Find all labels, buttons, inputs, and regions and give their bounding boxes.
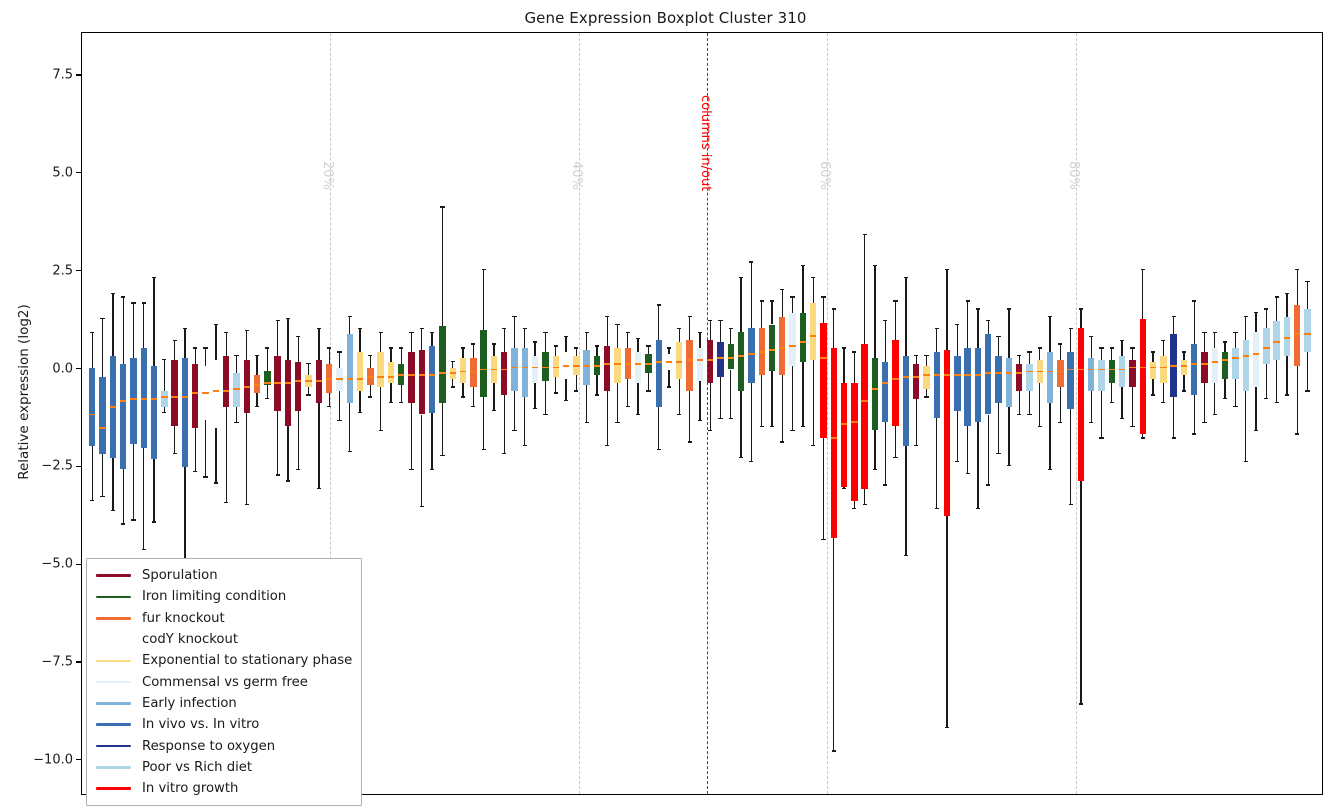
- whisker-lower: [740, 391, 741, 458]
- median-line: [182, 396, 188, 398]
- cap-upper: [873, 265, 877, 266]
- whisker-lower: [668, 370, 669, 388]
- whisker-upper: [1224, 342, 1225, 352]
- cap-upper: [430, 332, 434, 333]
- box-rect: [769, 325, 775, 372]
- whisker-upper: [1152, 352, 1153, 362]
- whisker-lower: [823, 438, 824, 540]
- cap-upper: [183, 328, 187, 329]
- median-line: [99, 427, 105, 429]
- whisker-lower: [359, 391, 360, 413]
- whisker-upper: [565, 336, 566, 352]
- legend-swatch: [96, 766, 131, 769]
- whisker-upper: [1080, 309, 1081, 329]
- cap-lower: [677, 414, 681, 415]
- legend[interactable]: SporulationIron limiting conditionfur kn…: [86, 558, 362, 806]
- cap-lower: [543, 414, 547, 415]
- legend-label: Iron limiting condition: [142, 589, 286, 604]
- cap-upper: [276, 320, 280, 321]
- cap-upper: [420, 328, 424, 329]
- whisker-upper: [1194, 301, 1195, 344]
- whisker-upper: [936, 328, 937, 351]
- box-rect: [470, 358, 476, 387]
- cap-lower: [1254, 430, 1258, 431]
- box-rect: [1273, 321, 1279, 360]
- median-line: [1006, 372, 1012, 374]
- box-rect: [99, 377, 105, 453]
- cap-lower: [162, 412, 166, 413]
- whisker-lower: [576, 375, 577, 391]
- cap-lower: [873, 469, 877, 470]
- cap-upper: [832, 308, 836, 309]
- box-rect: [635, 352, 641, 383]
- median-line: [305, 380, 311, 382]
- whisker-upper: [215, 325, 216, 360]
- box-rect: [1098, 360, 1104, 391]
- cap-lower: [348, 451, 352, 452]
- cap-upper: [471, 343, 475, 344]
- median-line: [841, 423, 847, 425]
- cap-upper: [842, 347, 846, 348]
- legend-swatch: [96, 617, 131, 620]
- box-rect: [686, 340, 692, 391]
- median-line: [676, 361, 682, 363]
- whisker-upper: [998, 336, 999, 356]
- whisker-upper: [174, 340, 175, 360]
- cap-lower: [935, 508, 939, 509]
- cap-lower: [842, 488, 846, 489]
- median-line: [964, 374, 970, 376]
- cap-lower: [760, 426, 764, 427]
- cap-upper: [379, 332, 383, 333]
- whisker-lower: [349, 403, 350, 452]
- cap-lower: [1120, 418, 1124, 419]
- whisker-lower: [627, 379, 628, 406]
- whisker-upper: [658, 305, 659, 340]
- median-line: [450, 372, 456, 374]
- median-line: [1067, 369, 1073, 371]
- cap-upper: [90, 332, 94, 333]
- whisker-upper: [1297, 270, 1298, 305]
- whisker-lower: [534, 383, 535, 408]
- cap-upper: [1223, 341, 1227, 342]
- cap-lower: [1130, 426, 1134, 427]
- whisker-upper: [401, 348, 402, 364]
- cap-lower: [430, 469, 434, 470]
- median-line: [666, 361, 672, 363]
- cap-lower: [440, 455, 444, 456]
- whisker-upper: [977, 309, 978, 348]
- cap-lower: [255, 406, 259, 407]
- box-rect: [233, 373, 239, 406]
- whisker-lower: [1286, 356, 1287, 395]
- median-line: [717, 357, 723, 359]
- legend-item-8[interactable]: Response to oxygen: [87, 735, 361, 756]
- median-line: [1119, 369, 1125, 371]
- whisker-upper: [226, 332, 227, 355]
- median-line: [470, 371, 476, 373]
- cap-lower: [863, 504, 867, 505]
- box-rect: [1160, 356, 1166, 383]
- whisker-lower: [226, 407, 227, 503]
- whisker-lower: [545, 381, 546, 414]
- box-rect: [1181, 360, 1187, 376]
- median-line: [501, 369, 507, 371]
- median-line: [480, 369, 486, 371]
- median-line: [934, 374, 940, 376]
- median-line: [563, 365, 569, 367]
- whisker-lower: [493, 383, 494, 410]
- whisker-lower: [1132, 387, 1133, 426]
- whisker-upper: [123, 297, 124, 364]
- legend-item-1[interactable]: Iron limiting condition: [87, 586, 361, 607]
- median-line: [1263, 347, 1269, 349]
- box-rect: [213, 360, 219, 428]
- median-line: [872, 388, 878, 390]
- cap-upper: [698, 332, 702, 333]
- box-rect: [171, 360, 177, 427]
- cap-lower: [595, 394, 599, 395]
- y-tick-label: 0.0: [52, 361, 73, 376]
- whisker-lower: [1235, 379, 1236, 406]
- whisker-lower: [1255, 387, 1256, 430]
- whisker-upper: [442, 207, 443, 326]
- whisker-upper: [689, 317, 690, 340]
- whisker-lower: [1121, 387, 1122, 418]
- whisker-upper: [524, 328, 525, 348]
- whisker-upper: [967, 301, 968, 348]
- cap-lower: [409, 469, 413, 470]
- cap-lower: [615, 422, 619, 423]
- whisker-lower: [586, 385, 587, 422]
- cap-lower: [667, 386, 671, 387]
- legend-swatch: [96, 787, 131, 790]
- cap-upper: [780, 289, 784, 290]
- cap-upper: [1285, 293, 1289, 294]
- legend-label: Response to oxygen: [142, 739, 275, 754]
- whisker-lower: [689, 391, 690, 442]
- box-rect: [583, 350, 589, 385]
- cap-upper: [863, 234, 867, 235]
- median-line: [1088, 369, 1094, 371]
- box-rect: [882, 362, 888, 423]
- whisker-upper: [1245, 317, 1246, 340]
- cap-upper: [677, 328, 681, 329]
- cap-lower: [801, 426, 805, 427]
- whisker-upper: [740, 278, 741, 333]
- whisker-lower: [215, 428, 216, 483]
- cap-lower: [1295, 433, 1299, 434]
- whisker-upper: [864, 235, 865, 345]
- cap-lower: [698, 420, 702, 421]
- whisker-upper: [1235, 332, 1236, 348]
- box-rect: [975, 348, 981, 422]
- median-line: [1026, 371, 1032, 373]
- gridline-label: 20%: [320, 161, 335, 190]
- cap-lower: [883, 484, 887, 485]
- median-line: [831, 437, 837, 439]
- median-line: [1201, 363, 1207, 365]
- median-line: [707, 359, 713, 361]
- box-rect: [1078, 328, 1084, 481]
- median-line: [1222, 359, 1228, 361]
- box-rect: [800, 313, 806, 362]
- legend-item-5[interactable]: Commensal vs germ free: [87, 671, 361, 692]
- median-line: [923, 374, 929, 376]
- legend-item-7[interactable]: In vivo vs. In vitro: [87, 714, 361, 735]
- cap-lower: [1048, 469, 1052, 470]
- cap-lower: [708, 430, 712, 431]
- cap-lower: [265, 398, 269, 399]
- cap-upper: [162, 359, 166, 360]
- box-rect: [182, 358, 188, 468]
- legend-label: fur knockout: [142, 611, 225, 626]
- whisker-upper: [277, 321, 278, 356]
- whisker-lower: [617, 383, 618, 422]
- whisker-lower: [421, 415, 422, 507]
- median-line: [810, 335, 816, 337]
- cap-upper: [1254, 312, 1258, 313]
- cap-lower: [111, 510, 115, 511]
- whisker-lower: [1101, 391, 1102, 438]
- legend-label: In vitro growth: [142, 781, 238, 796]
- whisker-upper: [112, 293, 113, 356]
- whisker-upper: [370, 356, 371, 368]
- whisker-upper: [102, 319, 103, 378]
- cap-lower: [193, 471, 197, 472]
- whisker-lower: [648, 373, 649, 391]
- cap-upper: [492, 343, 496, 344]
- cap-lower: [327, 406, 331, 407]
- whisker-upper: [1163, 340, 1164, 356]
- cap-lower: [790, 430, 794, 431]
- whisker-upper: [359, 328, 360, 351]
- cap-upper: [667, 347, 671, 348]
- whisker-upper: [421, 328, 422, 350]
- whisker-upper: [648, 346, 649, 354]
- box-rect: [1201, 352, 1207, 383]
- median-line: [1284, 337, 1290, 339]
- cap-upper: [100, 318, 104, 319]
- whisker-lower: [1080, 481, 1081, 704]
- cap-lower: [1285, 394, 1289, 395]
- box-rect: [1026, 364, 1032, 391]
- whisker-lower: [411, 403, 412, 470]
- median-line: [892, 378, 898, 380]
- median-line: [254, 384, 260, 386]
- cap-upper: [317, 328, 321, 329]
- cap-lower: [234, 422, 238, 423]
- chart-title: Gene Expression Boxplot Cluster 310: [0, 9, 1331, 27]
- whisker-lower: [153, 459, 154, 522]
- whisker-lower: [607, 391, 608, 446]
- whisker-lower: [885, 422, 886, 485]
- cap-lower: [1027, 414, 1031, 415]
- whisker-upper: [1101, 348, 1102, 360]
- cap-upper: [770, 300, 774, 301]
- whisker-lower: [957, 411, 958, 462]
- box-rect: [1253, 332, 1259, 387]
- columns-inout-label: columns in/out: [698, 95, 713, 191]
- median-line: [408, 374, 414, 376]
- whisker-lower: [380, 387, 381, 430]
- whisker-lower: [1111, 383, 1112, 403]
- whisker-lower: [730, 370, 731, 419]
- whisker-lower: [967, 426, 968, 473]
- whisker-upper: [1008, 309, 1009, 358]
- box-rect: [913, 364, 919, 399]
- whisker-lower: [1204, 383, 1205, 422]
- cap-upper: [554, 345, 558, 346]
- whisker-lower: [936, 418, 937, 508]
- whisker-lower: [524, 397, 525, 446]
- cap-lower: [1264, 398, 1268, 399]
- legend-item-6[interactable]: Early infection: [87, 693, 361, 714]
- whisker-lower: [174, 426, 175, 453]
- whisker-upper: [699, 332, 700, 348]
- whisker-upper: [462, 348, 463, 358]
- box-rect: [1067, 352, 1073, 409]
- whisker-upper: [1286, 293, 1287, 316]
- whisker-lower: [1019, 391, 1020, 414]
- cap-upper: [718, 320, 722, 321]
- cap-upper: [1007, 308, 1011, 309]
- boxplot-figure: Gene Expression Boxplot Cluster 310 Rela…: [0, 0, 1331, 812]
- cap-upper: [811, 277, 815, 278]
- whisker-upper: [679, 328, 680, 342]
- whisker-upper: [761, 301, 762, 328]
- box-rect: [1129, 360, 1135, 387]
- cap-lower: [1172, 437, 1176, 438]
- cap-lower: [924, 396, 928, 397]
- cap-lower: [1058, 422, 1062, 423]
- whisker-upper: [926, 356, 927, 366]
- cap-lower: [749, 461, 753, 462]
- gridline-60pct: [827, 33, 828, 794]
- median-line: [903, 376, 909, 378]
- whisker-lower: [1183, 375, 1184, 391]
- whisker-lower: [318, 403, 319, 489]
- box-rect: [1016, 364, 1022, 391]
- cap-upper: [1069, 328, 1073, 329]
- whisker-upper: [287, 319, 288, 360]
- cap-lower: [1275, 402, 1279, 403]
- whisker-upper: [586, 332, 587, 350]
- cap-upper: [1305, 281, 1309, 282]
- box-rect: [192, 364, 198, 429]
- whisker-upper: [1307, 281, 1308, 308]
- cap-lower: [1089, 422, 1093, 423]
- cap-upper: [1089, 336, 1093, 337]
- cap-upper: [1182, 351, 1186, 352]
- gridline-label: 80%: [1066, 161, 1081, 190]
- cap-upper: [1161, 340, 1165, 341]
- median-line: [316, 380, 322, 382]
- legend-item-0[interactable]: Sporulation: [87, 565, 361, 586]
- cap-lower: [451, 386, 455, 387]
- box-rect: [707, 340, 713, 383]
- legend-label: Commensal vs germ free: [142, 675, 308, 690]
- box-rect: [388, 362, 394, 384]
- cap-lower: [121, 523, 125, 524]
- whisker-upper: [596, 346, 597, 356]
- whisker-lower: [195, 428, 196, 471]
- box-rect: [1057, 360, 1063, 387]
- box-rect: [1088, 358, 1094, 391]
- cap-upper: [729, 328, 733, 329]
- cap-upper: [409, 332, 413, 333]
- gridline-label: 40%: [569, 161, 584, 190]
- median-line: [625, 363, 631, 365]
- legend-item-2[interactable]: fur knockout: [87, 608, 361, 629]
- cap-upper: [131, 302, 135, 303]
- median-line: [1232, 357, 1238, 359]
- whisker-lower: [143, 448, 144, 550]
- whisker-upper: [92, 332, 93, 367]
- whisker-lower: [92, 446, 93, 501]
- y-tick-label: 2.5: [52, 263, 73, 278]
- box-rect: [522, 348, 528, 397]
- cap-lower: [1079, 703, 1083, 704]
- median-line: [223, 390, 229, 392]
- median-line: [789, 345, 795, 347]
- cap-upper: [482, 269, 486, 270]
- legend-item-9[interactable]: Poor vs Rich diet: [87, 757, 361, 778]
- whisker-lower: [267, 385, 268, 399]
- box-rect: [810, 303, 816, 360]
- cap-upper: [523, 328, 527, 329]
- median-line: [769, 349, 775, 351]
- cap-upper: [1264, 308, 1268, 309]
- cap-upper: [595, 345, 599, 346]
- cap-lower: [780, 441, 784, 442]
- median-line: [851, 421, 857, 423]
- median-line: [491, 369, 497, 371]
- box-rect: [1263, 328, 1269, 363]
- median-line: [244, 386, 250, 388]
- whisker-lower: [1266, 364, 1267, 399]
- legend-item-10[interactable]: In vitro growth: [87, 778, 361, 799]
- box-rect: [1140, 319, 1146, 434]
- legend-swatch: [96, 574, 131, 577]
- cap-upper: [893, 300, 897, 301]
- median-line: [1078, 369, 1084, 371]
- cap-upper: [502, 328, 506, 329]
- cap-upper: [935, 328, 939, 329]
- whisker-upper: [720, 321, 721, 343]
- legend-item-3[interactable]: codY knockout: [87, 629, 361, 650]
- whisker-upper: [555, 346, 556, 356]
- whisker-lower: [390, 383, 391, 403]
- box-rect: [1191, 344, 1197, 395]
- whisker-upper: [1183, 352, 1184, 360]
- legend-item-4[interactable]: Exponential to stationary phase: [87, 650, 361, 671]
- cap-lower: [203, 476, 207, 477]
- whisker-upper: [514, 317, 515, 348]
- median-line: [553, 367, 559, 369]
- whisker-lower: [988, 415, 989, 485]
- box-rect: [1109, 360, 1115, 383]
- whisker-upper: [730, 328, 731, 344]
- whisker-lower: [1224, 379, 1225, 399]
- whisker-lower: [236, 407, 237, 423]
- cap-upper: [265, 347, 269, 348]
- whisker-lower: [1070, 409, 1071, 505]
- box-rect: [480, 330, 486, 397]
- whisker-upper: [1029, 352, 1030, 364]
- median-line: [1047, 371, 1053, 373]
- cap-lower: [100, 496, 104, 497]
